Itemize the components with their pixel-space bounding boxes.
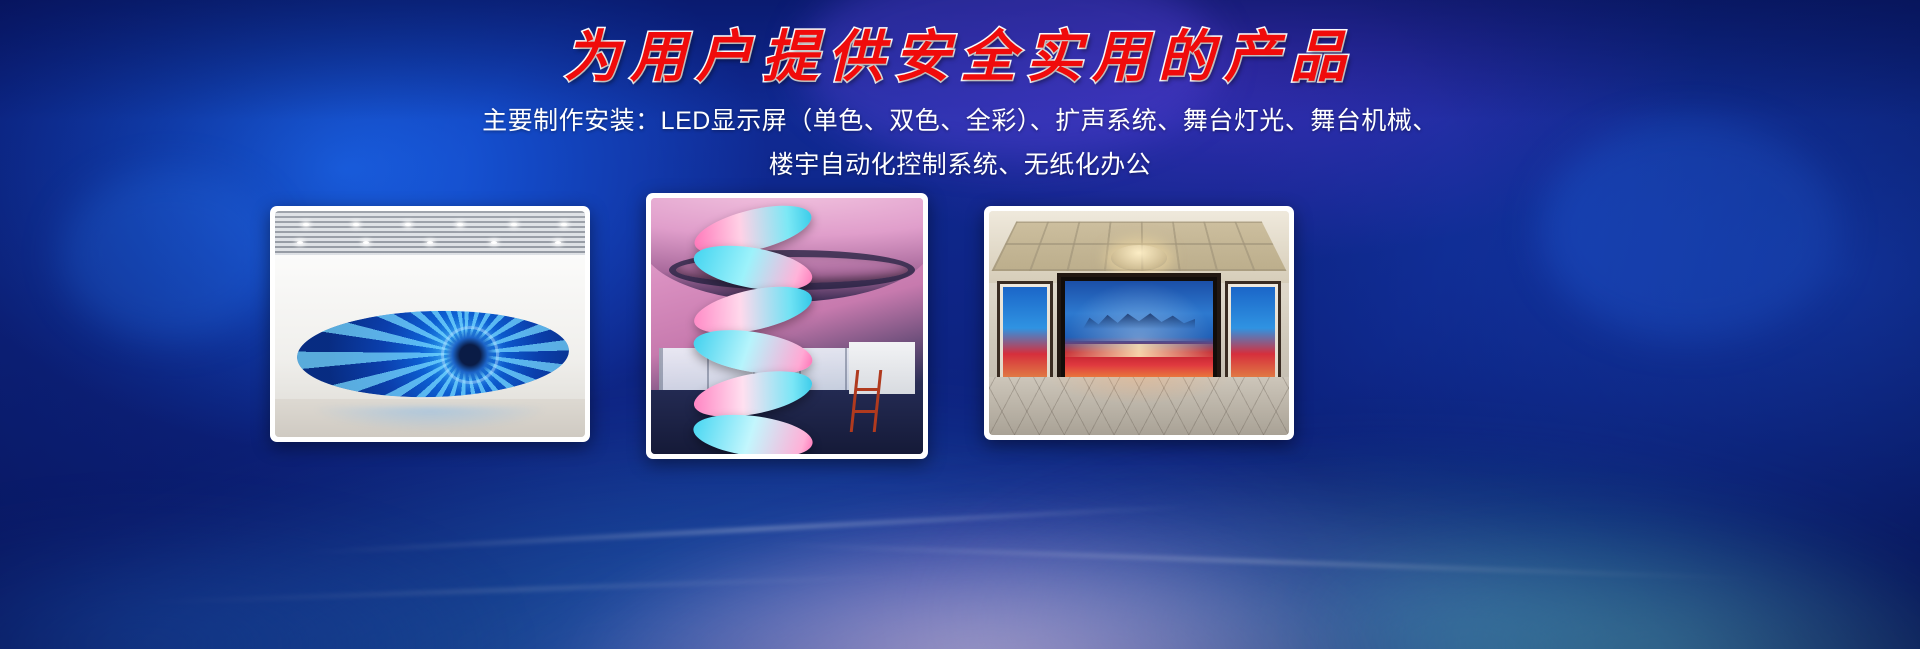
photo-led-eye-display	[275, 211, 585, 437]
tiled-floor	[989, 377, 1289, 435]
spiral-led-display	[693, 204, 817, 454]
ceiling-spot-light	[555, 241, 561, 244]
floor-light-reflection	[315, 407, 545, 431]
ceiling-spot-light	[561, 223, 567, 226]
photo-led-spiral-screen	[651, 198, 923, 454]
ceiling-spot-light	[363, 241, 369, 244]
gallery-item-led-spiral-screen[interactable]	[646, 193, 928, 459]
screen-skyline-graphic	[1065, 281, 1213, 341]
ceiling-spot-light	[491, 241, 497, 244]
ceiling-spot-light	[457, 223, 463, 226]
ceiling-spot-light	[353, 223, 359, 226]
gallery-item-led-eye-display[interactable]	[270, 206, 590, 442]
ceiling-spot-light	[427, 241, 433, 244]
main-led-screen-content	[1065, 281, 1213, 389]
ceiling-spot-light	[297, 241, 303, 244]
promo-banner: 为用户提供安全实用的产品 主要制作安装：LED显示屏（单色、双色、全彩）、扩声系…	[0, 0, 1920, 649]
gallery-item-led-conference-stage[interactable]	[984, 206, 1294, 440]
banner-photo-gallery	[0, 0, 1920, 649]
chandelier-icon	[1111, 245, 1167, 271]
ceiling-spot-light	[511, 223, 517, 226]
ceiling-spot-light	[303, 223, 309, 226]
ceiling-louver	[275, 211, 585, 259]
screen-text-band	[1065, 344, 1213, 357]
ceiling-spot-light	[405, 223, 411, 226]
photo-led-conference-stage	[989, 211, 1289, 435]
